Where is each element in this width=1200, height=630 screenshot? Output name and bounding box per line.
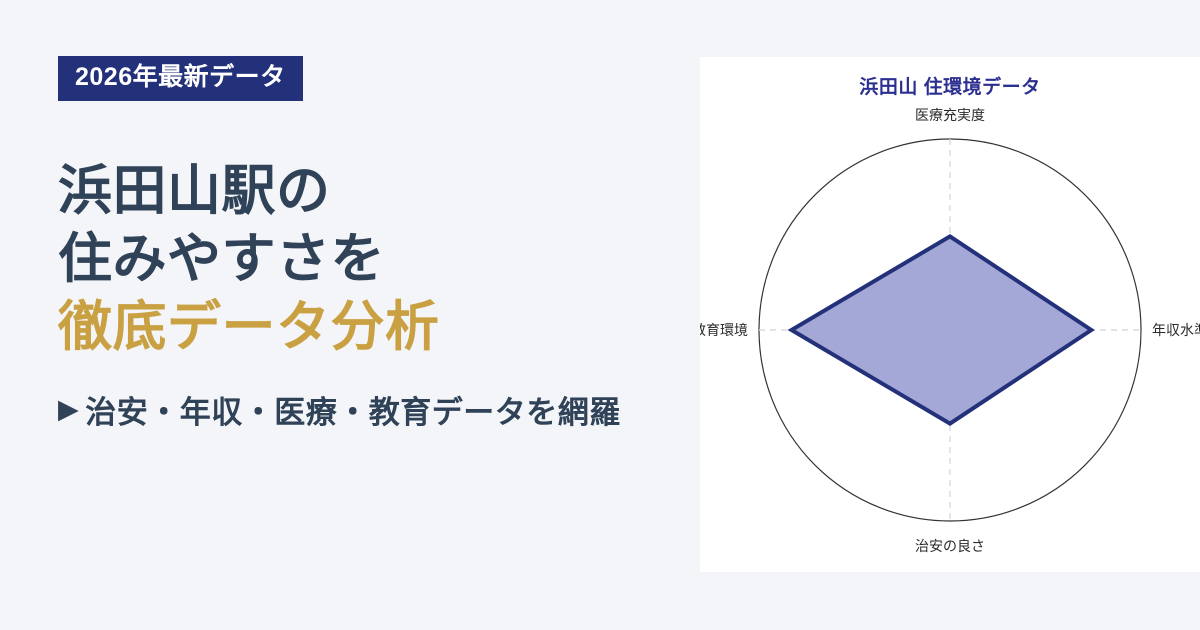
headline-line-1: 浜田山駅の bbox=[58, 157, 700, 225]
radar-label-top: 医療充実度 bbox=[915, 107, 985, 123]
latest-data-badge: 2026年最新データ bbox=[58, 56, 303, 101]
hero-left-column: 2026年最新データ 浜田山駅の 住みやすさを 徹底データ分析 ▶ 治安・年収・… bbox=[0, 0, 700, 630]
headline-line-3: 徹底データ分析 bbox=[58, 293, 700, 361]
page-title: 浜田山駅の 住みやすさを 徹底データ分析 bbox=[58, 157, 700, 361]
radar-label-bottom: 治安の良さ bbox=[915, 538, 985, 554]
triangle-right-icon: ▶ bbox=[58, 396, 79, 423]
radar-chart-panel: 浜田山 住環境データ 医療充実度 年収水準 治安の良さ 教育環境 bbox=[700, 57, 1200, 572]
radar-data-polygon bbox=[792, 236, 1092, 423]
radar-label-left: 教育環境 bbox=[700, 322, 748, 338]
subtitle-text: 治安・年収・医療・教育データを網羅 bbox=[85, 387, 621, 432]
radar-chart-svg: 医療充実度 年収水準 治安の良さ 教育環境 bbox=[700, 57, 1200, 572]
radar-label-right: 年収水準 bbox=[1152, 322, 1200, 338]
subtitle: ▶ 治安・年収・医療・教育データを網羅 bbox=[58, 387, 700, 432]
headline-line-2: 住みやすさを bbox=[58, 225, 700, 293]
